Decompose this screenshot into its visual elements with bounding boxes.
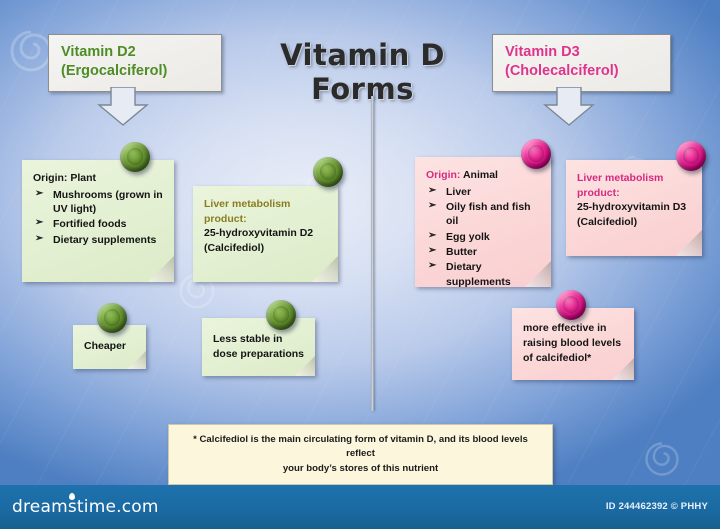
- bullet-arrow-icon: ➢: [428, 259, 436, 273]
- pushpin-green-icon: [97, 303, 127, 333]
- note-fold-corner: [148, 256, 174, 282]
- header-box-vitamin-d2: Vitamin D2 (Ergocalciferol): [48, 34, 222, 92]
- list-item-label: Dietary supplements: [446, 261, 511, 287]
- bullet-arrow-icon: ➢: [428, 244, 436, 258]
- list-item-label: Dietary supplements: [53, 234, 156, 246]
- metabolism-d3-body-line2: (Calcifediol): [577, 215, 692, 230]
- list-item-label: Fortified foods: [53, 218, 127, 230]
- origin-animal-header: Origin: Animal: [426, 168, 541, 183]
- list-item: ➢Dietary supplements: [426, 260, 541, 289]
- list-item-label: Oily fish and fish oil: [446, 201, 531, 227]
- list-item: ➢Mushrooms (grown in UV light): [33, 188, 164, 217]
- metabolism-d3-body-line1: 25-hydroxyvitamin D3: [577, 200, 692, 215]
- list-item-label: Mushrooms (grown in UV light): [53, 189, 163, 215]
- more-effective-line2: raising blood levels: [523, 336, 624, 351]
- pushpin-green-icon: [120, 142, 150, 172]
- origin-animal-label: Origin:: [426, 169, 460, 181]
- list-item-label: Butter: [446, 246, 477, 258]
- metabolism-d2-heading-line1: Liver metabolism: [204, 197, 328, 212]
- pushpin-magenta-icon: [556, 290, 586, 320]
- page-title: Vitamin D Forms: [225, 38, 500, 106]
- cheaper-label: Cheaper: [84, 339, 136, 354]
- metabolism-d2-body-line2: (Calcifediol): [204, 241, 328, 256]
- note-origin-plant: Origin: Plant ➢Mushrooms (grown in UV li…: [22, 160, 174, 282]
- header-d3-line2: (Cholecalciferol): [505, 62, 660, 81]
- pushpin-magenta-icon: [521, 139, 551, 169]
- infographic-canvas: Vitamin D Forms Vitamin D2 (Ergocalcifer…: [0, 0, 720, 529]
- list-item: ➢Butter: [426, 245, 541, 259]
- note-less-stable: Less stable in dose preparations: [202, 318, 315, 376]
- footnote-box: * Calcifediol is the main circulating fo…: [168, 424, 553, 485]
- origin-plant-header: Origin: Plant: [33, 171, 164, 186]
- list-item: ➢Dietary supplements: [33, 233, 164, 247]
- bullet-arrow-icon: ➢: [35, 216, 43, 230]
- header-d2-line2: (Ergocalciferol): [61, 62, 211, 81]
- bullet-arrow-icon: ➢: [428, 229, 436, 243]
- dreamstime-logo: dreamstime.com: [12, 497, 159, 517]
- watermark-spiral-icon: [640, 437, 684, 481]
- metabolism-d3-heading-line1: Liver metabolism: [577, 171, 692, 186]
- origin-plant-value: Plant: [70, 172, 96, 184]
- metabolism-d3-heading-line2: product:: [577, 186, 692, 201]
- metabolism-d2-body-line1: 25-hydroxyvitamin D2: [204, 226, 328, 241]
- origin-plant-list: ➢Mushrooms (grown in UV light) ➢Fortifie…: [33, 188, 164, 247]
- list-item: ➢Fortified foods: [33, 217, 164, 231]
- center-divider: [371, 96, 374, 411]
- note-origin-animal: Origin: Animal ➢Liver ➢Oily fish and fis…: [415, 157, 551, 287]
- more-effective-line3: of calcifediol*: [523, 351, 624, 366]
- origin-animal-list: ➢Liver ➢Oily fish and fish oil ➢Egg yolk…: [426, 185, 541, 289]
- list-item-label: Liver: [446, 186, 471, 198]
- origin-plant-label: Origin:: [33, 172, 67, 184]
- note-fold-corner: [676, 230, 702, 256]
- footer-bar: dreamstime.com ID 244462392 © PHHY: [0, 485, 720, 529]
- origin-animal-value: Animal: [463, 169, 498, 181]
- pushpin-green-icon: [313, 157, 343, 187]
- bullet-arrow-icon: ➢: [428, 184, 436, 198]
- note-liver-metabolism-d3: Liver metabolism product: 25-hydroxyvita…: [566, 160, 702, 256]
- image-credit: ID 244462392 © PHHY: [606, 501, 708, 512]
- header-box-vitamin-d3: Vitamin D3 (Cholecalciferol): [492, 34, 671, 92]
- less-stable-line2: dose preparations: [213, 347, 305, 362]
- brand-text: dreamstime.com: [12, 497, 159, 517]
- footnote-line2: your body’s stores of this nutrient: [179, 462, 542, 476]
- list-item: ➢Egg yolk: [426, 230, 541, 244]
- pushpin-magenta-icon: [676, 141, 706, 171]
- arrow-down-d3-icon: [541, 87, 597, 127]
- arrow-down-d2-icon: [95, 87, 151, 127]
- note-liver-metabolism-d2: Liver metabolism product: 25-hydroxyvita…: [193, 186, 338, 282]
- footnote-line1: * Calcifediol is the main circulating fo…: [179, 433, 542, 462]
- bullet-arrow-icon: ➢: [35, 187, 43, 201]
- note-fold-corner: [312, 256, 338, 282]
- list-item: ➢Oily fish and fish oil: [426, 200, 541, 229]
- metabolism-d2-heading-line2: product:: [204, 212, 328, 227]
- list-item: ➢Liver: [426, 185, 541, 199]
- header-d2-line1: Vitamin D2: [61, 43, 211, 62]
- more-effective-line1: more effective in: [523, 321, 624, 336]
- list-item-label: Egg yolk: [446, 231, 490, 243]
- less-stable-line1: Less stable in: [213, 332, 305, 347]
- bullet-arrow-icon: ➢: [35, 232, 43, 246]
- header-d3-line1: Vitamin D3: [505, 43, 660, 62]
- brand-dot-icon: [69, 493, 75, 500]
- bullet-arrow-icon: ➢: [428, 199, 436, 213]
- pushpin-green-icon: [266, 300, 296, 330]
